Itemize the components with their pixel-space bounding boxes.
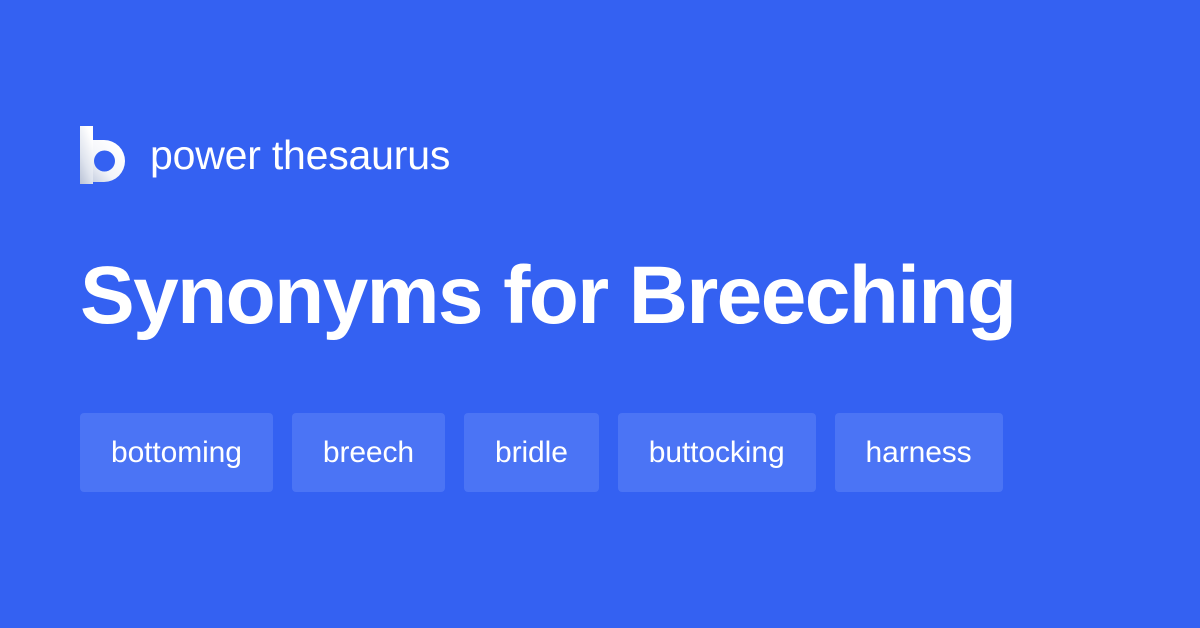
synonym-chip[interactable]: bottoming (80, 413, 273, 492)
synonym-chip[interactable]: harness (835, 413, 1003, 492)
power-thesaurus-b-logo-icon (80, 126, 126, 184)
synonym-chip-list: bottoming breech bridle buttocking harne… (80, 413, 1003, 492)
brand-name: power thesaurus (150, 135, 450, 176)
synonym-chip[interactable]: buttocking (618, 413, 816, 492)
synonym-chip[interactable]: bridle (464, 413, 599, 492)
page-title: Synonyms for Breeching (80, 248, 1015, 344)
share-card: power thesaurus Synonyms for Breeching b… (0, 0, 1200, 628)
brand-lockup[interactable]: power thesaurus (80, 126, 450, 184)
synonym-chip[interactable]: breech (292, 413, 445, 492)
